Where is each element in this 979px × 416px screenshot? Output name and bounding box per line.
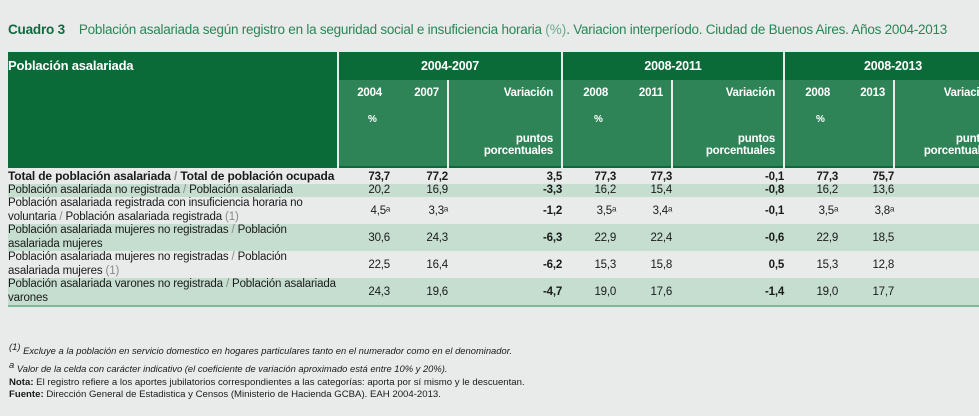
cell-value: 22,5 [338,251,390,278]
table-page: Cuadro 3Población asalariada según regis… [0,0,979,416]
cell-variation: -3,3 [448,184,562,198]
cell-variation: -4,4 [894,224,979,251]
subheader-variation-label: Variación [726,87,775,99]
cell-variation: -2,5 [894,251,979,278]
cell-value: 19,0 [562,278,616,306]
row-label: Población asalariada mujeres no registra… [8,251,338,278]
cell-variation: -0,8 [672,184,784,198]
cell-value: 22,4 [616,224,672,251]
subheader-g3-variation: Variación puntosporcentuales [894,80,979,167]
row-label: Total de población asalariada / Total de… [8,170,338,184]
cell-value: 15,3 [784,251,838,278]
cell-value: 16,2 [784,184,838,198]
cell-variation: -4,7 [448,278,562,306]
cell-value: 16,2 [562,184,616,198]
subheader-g1-variation: Variación puntosporcentuales [448,80,562,167]
row-label: Población asalariada mujeres no registra… [8,224,338,251]
subheader-year-label: 2008 [805,87,830,99]
subheader-year-label: 2008 [583,87,608,99]
subheader-variation-unit: puntosporcentuales [706,133,775,157]
table-title-main: Población asalariada según registro en l… [79,22,545,37]
cell-value: 4,5ᵃ [338,197,390,224]
cell-value: 13,6 [838,184,894,198]
cell-variation: -2,6 [894,184,979,198]
table-title-percent: (%) [545,22,566,37]
cell-value: 3,4ᵃ [616,197,672,224]
cell-variation: -0,6 [672,224,784,251]
cell-value: 77,3 [562,170,616,184]
cell-value: 17,6 [616,278,672,306]
cell-value: 19,0 [784,278,838,306]
group-header-2008-2013: 2008-2013 [784,52,979,80]
cell-value: 30,6 [338,224,390,251]
table-row: Población asalariada registrada con insu… [8,197,979,224]
cell-variation: -6,2 [448,251,562,278]
cell-value: 3,8ᵃ [838,197,894,224]
cell-value: 77,3 [616,170,672,184]
cell-value: 22,9 [784,224,838,251]
cell-value: 73,7 [338,170,390,184]
cell-value: 17,7 [838,278,894,306]
cell-variation: -1,4 [672,278,784,306]
footnote-1-marker: (1) [9,341,20,352]
table-corner-label: Población asalariada [8,52,338,167]
subheader-year-label: 2004 [357,87,382,99]
cell-value: 75,7 [838,170,894,184]
cell-value: 15,4 [616,184,672,198]
cell-value: 24,3 [338,278,390,306]
footnote-2: a Valor de la celda con carácter indicat… [9,359,969,377]
subheader-g3-year2: 2013 % [838,80,894,167]
table-row: Total de población asalariada / Total de… [8,170,979,184]
subheader-g2-variation: Variación puntosporcentuales [672,80,784,167]
table-bottom-rule [8,306,979,309]
cell-value: 15,3 [562,251,616,278]
row-label: Población asalariada no registrada / Pob… [8,184,338,198]
subheader-g1-year2: 2007 % [390,80,448,167]
subheader-variation-label: Variación [944,87,979,99]
table-row: Población asalariada varones no registra… [8,278,979,306]
cell-value: 20,2 [338,184,390,198]
cell-value: 19,6 [390,278,448,306]
cell-value: 3,5ᵃ [562,197,616,224]
group-header-2008-2011: 2008-2011 [562,52,784,80]
row-label: Población asalariada varones no registra… [8,278,338,306]
subheader-variation-label: Variación [504,87,553,99]
cell-variation: 3,5 [448,170,562,184]
data-table: Población asalariada 2004-2007 2008-2011… [8,52,979,309]
cell-value: 77,3 [784,170,838,184]
cell-variation: 0,5 [672,251,784,278]
cell-variation: -1,6 [894,170,979,184]
table-footnotes: (1) Excluye a la población en servicio d… [9,341,969,402]
footnote-fuente: Fuente: Dirección General de Estadistica… [9,389,969,402]
cell-value: 3,3ᵃ [390,197,448,224]
cell-value: 16,9 [390,184,448,198]
cell-variation: -1,2 [448,197,562,224]
cell-value: 16,4 [390,251,448,278]
cell-variation: 0,3 [894,197,979,224]
cell-value: 15,8 [616,251,672,278]
subheader-unit-percent: % [368,114,377,125]
subheader-variation-unit: puntosporcentuales [484,133,553,157]
subheader-unit-percent: % [594,114,603,125]
subheader-variation-unit: puntosporcentuales [924,133,979,157]
group-header-2004-2007: 2004-2007 [338,52,562,80]
subheader-g2-year1: 2008 [562,80,616,167]
cell-value: 3,5ᵃ [784,197,838,224]
cell-value: 18,5 [838,224,894,251]
row-label: Población asalariada registrada con insu… [8,197,338,224]
cell-value: 77,2 [390,170,448,184]
header-group-row: Población asalariada 2004-2007 2008-2011… [8,52,979,80]
cell-value: 22,9 [562,224,616,251]
table-number: Cuadro 3 [8,22,65,37]
table-row: Población asalariada mujeres no registra… [8,224,979,251]
subheader-year-label: 2011 [639,87,663,99]
table-title-tail: . Variacion interperíodo. Ciudad de Buen… [566,22,947,37]
table-row: Población asalariada mujeres no registra… [8,251,979,278]
subheader-year-label: 2007 [414,87,439,99]
page-title: Cuadro 3Población asalariada según regis… [8,22,971,38]
cell-variation: -6,3 [448,224,562,251]
cell-value: 24,3 [390,224,448,251]
subheader-g2-year2: 2011 % [616,80,672,167]
footnote-fuente-label: Fuente: [9,389,44,400]
subheader-unit-percent: % [816,114,825,125]
subheader-year-label: 2013 [860,87,885,99]
table-row: Población asalariada no registrada / Pob… [8,184,979,198]
footnote-nota-label: Nota: [9,377,34,388]
cell-value: 12,8 [838,251,894,278]
subheader-g1-year1: 2004 [338,80,390,167]
cell-variation: -1,3 [894,278,979,306]
footnote-1: (1) Excluye a la población en servicio d… [9,341,969,359]
cell-variation: -0,1 [672,170,784,184]
subheader-g3-year1: 2008 [784,80,838,167]
footnote-nota: Nota: El registro refiere a los aportes … [9,377,969,390]
cell-variation: -0,1 [672,197,784,224]
